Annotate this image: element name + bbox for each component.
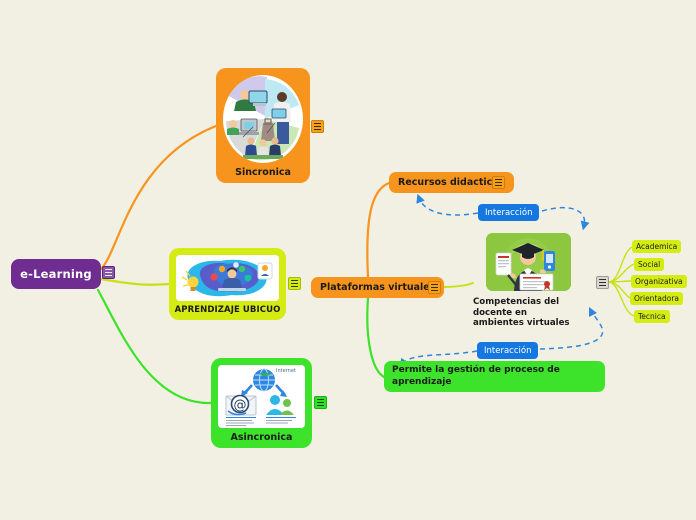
node-permite-gestion[interactable]: Permite la gestión de proceso de aprendi… xyxy=(384,361,605,392)
competencias-docente-label: Competencias del docente en ambientes vi… xyxy=(473,297,579,329)
email-internet-communication-diagram: Internet @ xyxy=(218,365,305,428)
relation-interaction-top-left xyxy=(419,198,478,215)
connector-competencias-tag-0 xyxy=(609,247,632,282)
tag-tecnica-label: Tecnica xyxy=(638,312,666,321)
node-competencias-docente[interactable]: Competencias del docente en ambientes vi… xyxy=(473,233,593,329)
tag-organizativa[interactable]: Organizativa xyxy=(631,275,687,288)
node-asincronica[interactable]: Internet @ xyxy=(211,358,312,448)
node-sincronica[interactable]: Sincronica xyxy=(216,68,310,183)
root-node-label: e-Learning xyxy=(20,267,92,281)
tag-social[interactable]: Social xyxy=(634,258,664,271)
note-icon-recursos-didacticos[interactable] xyxy=(492,176,505,189)
tag-orientadora[interactable]: Orientadora xyxy=(630,292,683,305)
tag-organizativa-label: Organizativa xyxy=(635,277,683,286)
relation-interaction-top-right xyxy=(542,208,585,226)
sincronica-thumbnail xyxy=(223,75,303,163)
student-with-icons-watercolor-illustration xyxy=(176,255,279,301)
recursos-didacticos-label: Recursos didacticos xyxy=(398,177,505,188)
tag-orientadora-label: Orientadora xyxy=(634,294,679,303)
connector-plataformas-competencias xyxy=(441,283,473,287)
interaction-top-label: Interacción xyxy=(485,208,532,218)
asincronica-thumbnail: Internet @ xyxy=(218,365,305,428)
note-icon-sincronica[interactable] xyxy=(311,120,324,133)
sincronica-label: Sincronica xyxy=(235,167,291,178)
competencias-thumbnail xyxy=(486,233,571,291)
permite-gestion-label: Permite la gestión de proceso de aprendi… xyxy=(392,365,597,388)
node-aprendizaje-ubicuo[interactable]: APRENDIZAJE UBICUO xyxy=(169,248,286,320)
tag-social-label: Social xyxy=(638,260,660,269)
svg-text:@: @ xyxy=(234,398,247,413)
interaction-bottom-label: Interacción xyxy=(484,346,531,356)
ubicuo-label: APRENDIZAJE UBICUO xyxy=(175,305,281,315)
root-node-e-learning[interactable]: e-Learning xyxy=(11,259,101,289)
graduate-teacher-with-tablet-illustration xyxy=(486,233,571,291)
connector-root-ubicuo xyxy=(101,279,169,285)
node-plataformas-virtuales[interactable]: Plataformas virtuales xyxy=(311,277,444,298)
svg-text:Internet: Internet xyxy=(276,368,296,374)
note-icon-plataformas-virtuales[interactable] xyxy=(428,281,441,294)
plataformas-virtuales-label: Plataformas virtuales xyxy=(320,282,435,293)
relation-label-interaction-bottom[interactable]: Interacción xyxy=(477,342,538,359)
note-icon-ubicuo[interactable] xyxy=(288,277,301,290)
connector-competencias-tag-3 xyxy=(609,282,630,298)
tag-tecnica[interactable]: Tecnica xyxy=(634,310,670,323)
mindmap-canvas: e-Learning xyxy=(0,0,696,520)
tag-academica-label: Academica xyxy=(636,242,677,251)
tag-academica[interactable]: Academica xyxy=(632,240,681,253)
connector-plataformas-permite xyxy=(367,298,384,377)
ubicuo-thumbnail xyxy=(176,255,279,301)
connector-competencias-tag-2 xyxy=(609,281,631,282)
note-icon-competencias-docente[interactable] xyxy=(596,276,609,289)
connector-plataformas-recursos xyxy=(367,183,389,277)
note-icon-root[interactable] xyxy=(102,266,115,279)
asincronica-label: Asincronica xyxy=(231,432,293,443)
note-icon-asincronica[interactable] xyxy=(314,396,327,409)
people-with-computers-illustration xyxy=(223,75,303,163)
relation-label-interaction-top[interactable]: Interacción xyxy=(478,204,539,221)
